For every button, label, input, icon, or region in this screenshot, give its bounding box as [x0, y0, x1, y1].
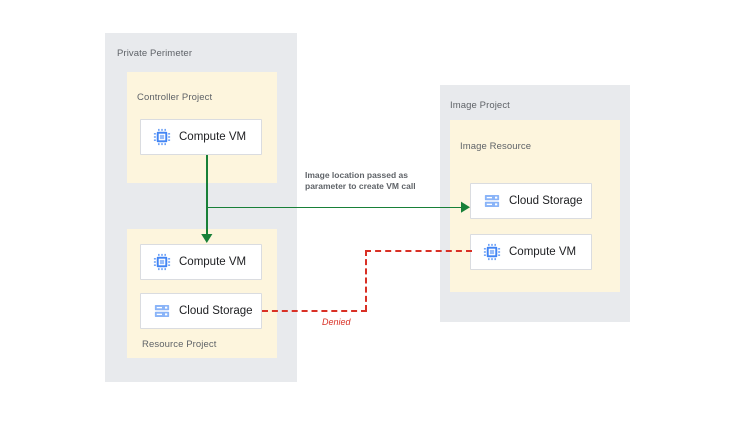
- compute-vm-icon: [153, 253, 171, 271]
- diagram-canvas: Private Perimeter Controller Project: [0, 0, 736, 421]
- node-resource-compute-vm[interactable]: Compute VM: [140, 244, 262, 280]
- group-private-perimeter-label: Private Perimeter: [117, 48, 192, 59]
- edge-allowed-horizontal: [206, 207, 464, 209]
- group-resource-project-label: Resource Project: [142, 339, 216, 350]
- compute-vm-icon: [153, 128, 171, 146]
- group-image-resource-label: Image Resource: [460, 141, 531, 152]
- edge-denied-segment-vertical: [365, 250, 367, 311]
- cloud-storage-icon: [153, 302, 171, 320]
- cloud-storage-icon: [483, 192, 501, 210]
- compute-vm-icon: [483, 243, 501, 261]
- node-image-compute-vm-label: Compute VM: [509, 246, 576, 258]
- node-resource-compute-vm-label: Compute VM: [179, 256, 246, 268]
- edge-denied-segment-upper: [365, 250, 472, 252]
- edge-allowed-vertical: [206, 155, 208, 239]
- edge-allowed-label-line1: Image location passed as: [305, 170, 416, 181]
- edge-allowed-down-arrowhead: [198, 234, 216, 246]
- edge-denied-label: Denied: [322, 317, 351, 327]
- edge-allowed-label: Image location passed as parameter to cr…: [305, 170, 416, 192]
- edge-allowed-label-line2: parameter to create VM call: [305, 181, 416, 192]
- group-image-project-label: Image Project: [450, 100, 510, 111]
- node-controller-compute-vm-label: Compute VM: [179, 131, 246, 143]
- node-resource-cloud-storage[interactable]: Cloud Storage: [140, 293, 262, 329]
- node-image-cloud-storage[interactable]: Cloud Storage: [470, 183, 592, 219]
- node-controller-compute-vm[interactable]: Compute VM: [140, 119, 262, 155]
- node-image-compute-vm[interactable]: Compute VM: [470, 234, 592, 270]
- edge-allowed-right-arrowhead: [461, 199, 473, 216]
- node-resource-cloud-storage-label: Cloud Storage: [179, 305, 253, 317]
- edge-denied-segment-lower: [262, 310, 367, 312]
- node-image-cloud-storage-label: Cloud Storage: [509, 195, 583, 207]
- group-controller-project-label: Controller Project: [137, 92, 212, 103]
